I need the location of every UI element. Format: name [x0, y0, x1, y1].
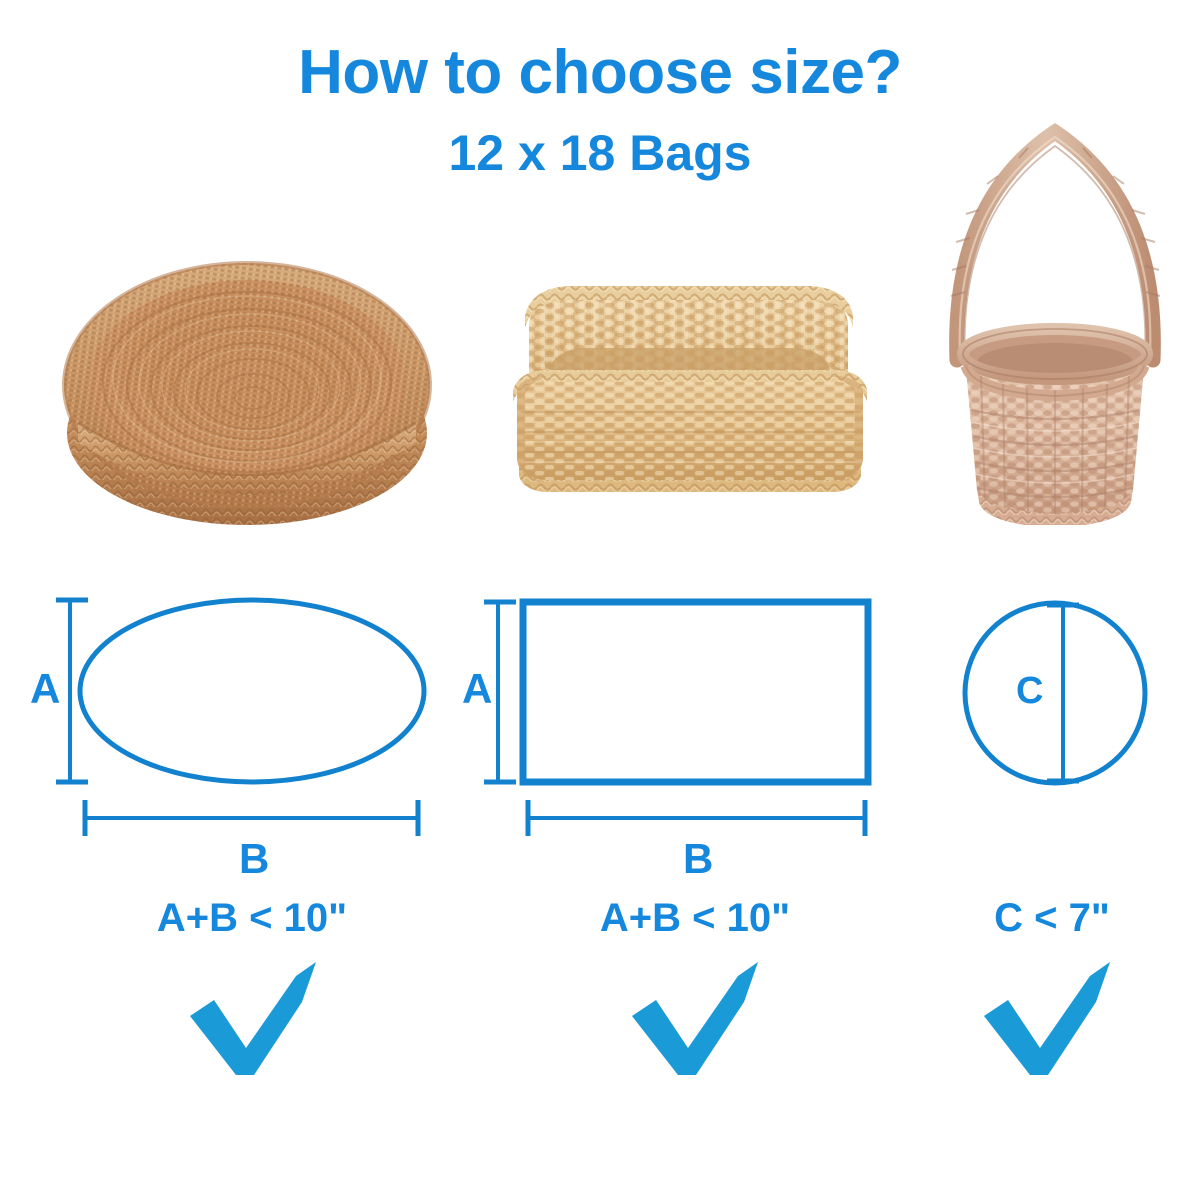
- rectangle-caption: A+B < 10": [505, 898, 885, 938]
- checkmark-icon-1: [190, 962, 316, 1075]
- page-title: How to choose size?: [0, 42, 1200, 104]
- handled-basket-photo: [935, 110, 1175, 525]
- rectangle-diagram: [484, 602, 868, 836]
- circle-shape: [965, 603, 1145, 783]
- rectangular-basket-photo: [495, 272, 880, 497]
- ellipse-shape: [80, 600, 424, 782]
- infographic-page: How to choose size? 12 x 18 Bags: [0, 0, 1200, 1200]
- ellipse-caption: A+B < 10": [62, 898, 442, 938]
- ellipse-dim-b-label: B: [239, 838, 269, 880]
- ellipse-dim-a-label: A: [30, 668, 60, 710]
- rect-dim-a-label: A: [462, 668, 492, 710]
- checkmark-icon-3: [984, 962, 1110, 1075]
- circle-diagram: [965, 603, 1145, 783]
- rect-dim-b-label: B: [683, 838, 713, 880]
- rectangle-shape: [523, 602, 868, 782]
- ellipse-diagram: [56, 600, 424, 836]
- circle-caption: C < 7": [912, 898, 1192, 938]
- round-basket-photo: [60, 255, 435, 530]
- checkmark-icon-2: [632, 962, 758, 1075]
- circle-dim-c-label: C: [1016, 672, 1043, 710]
